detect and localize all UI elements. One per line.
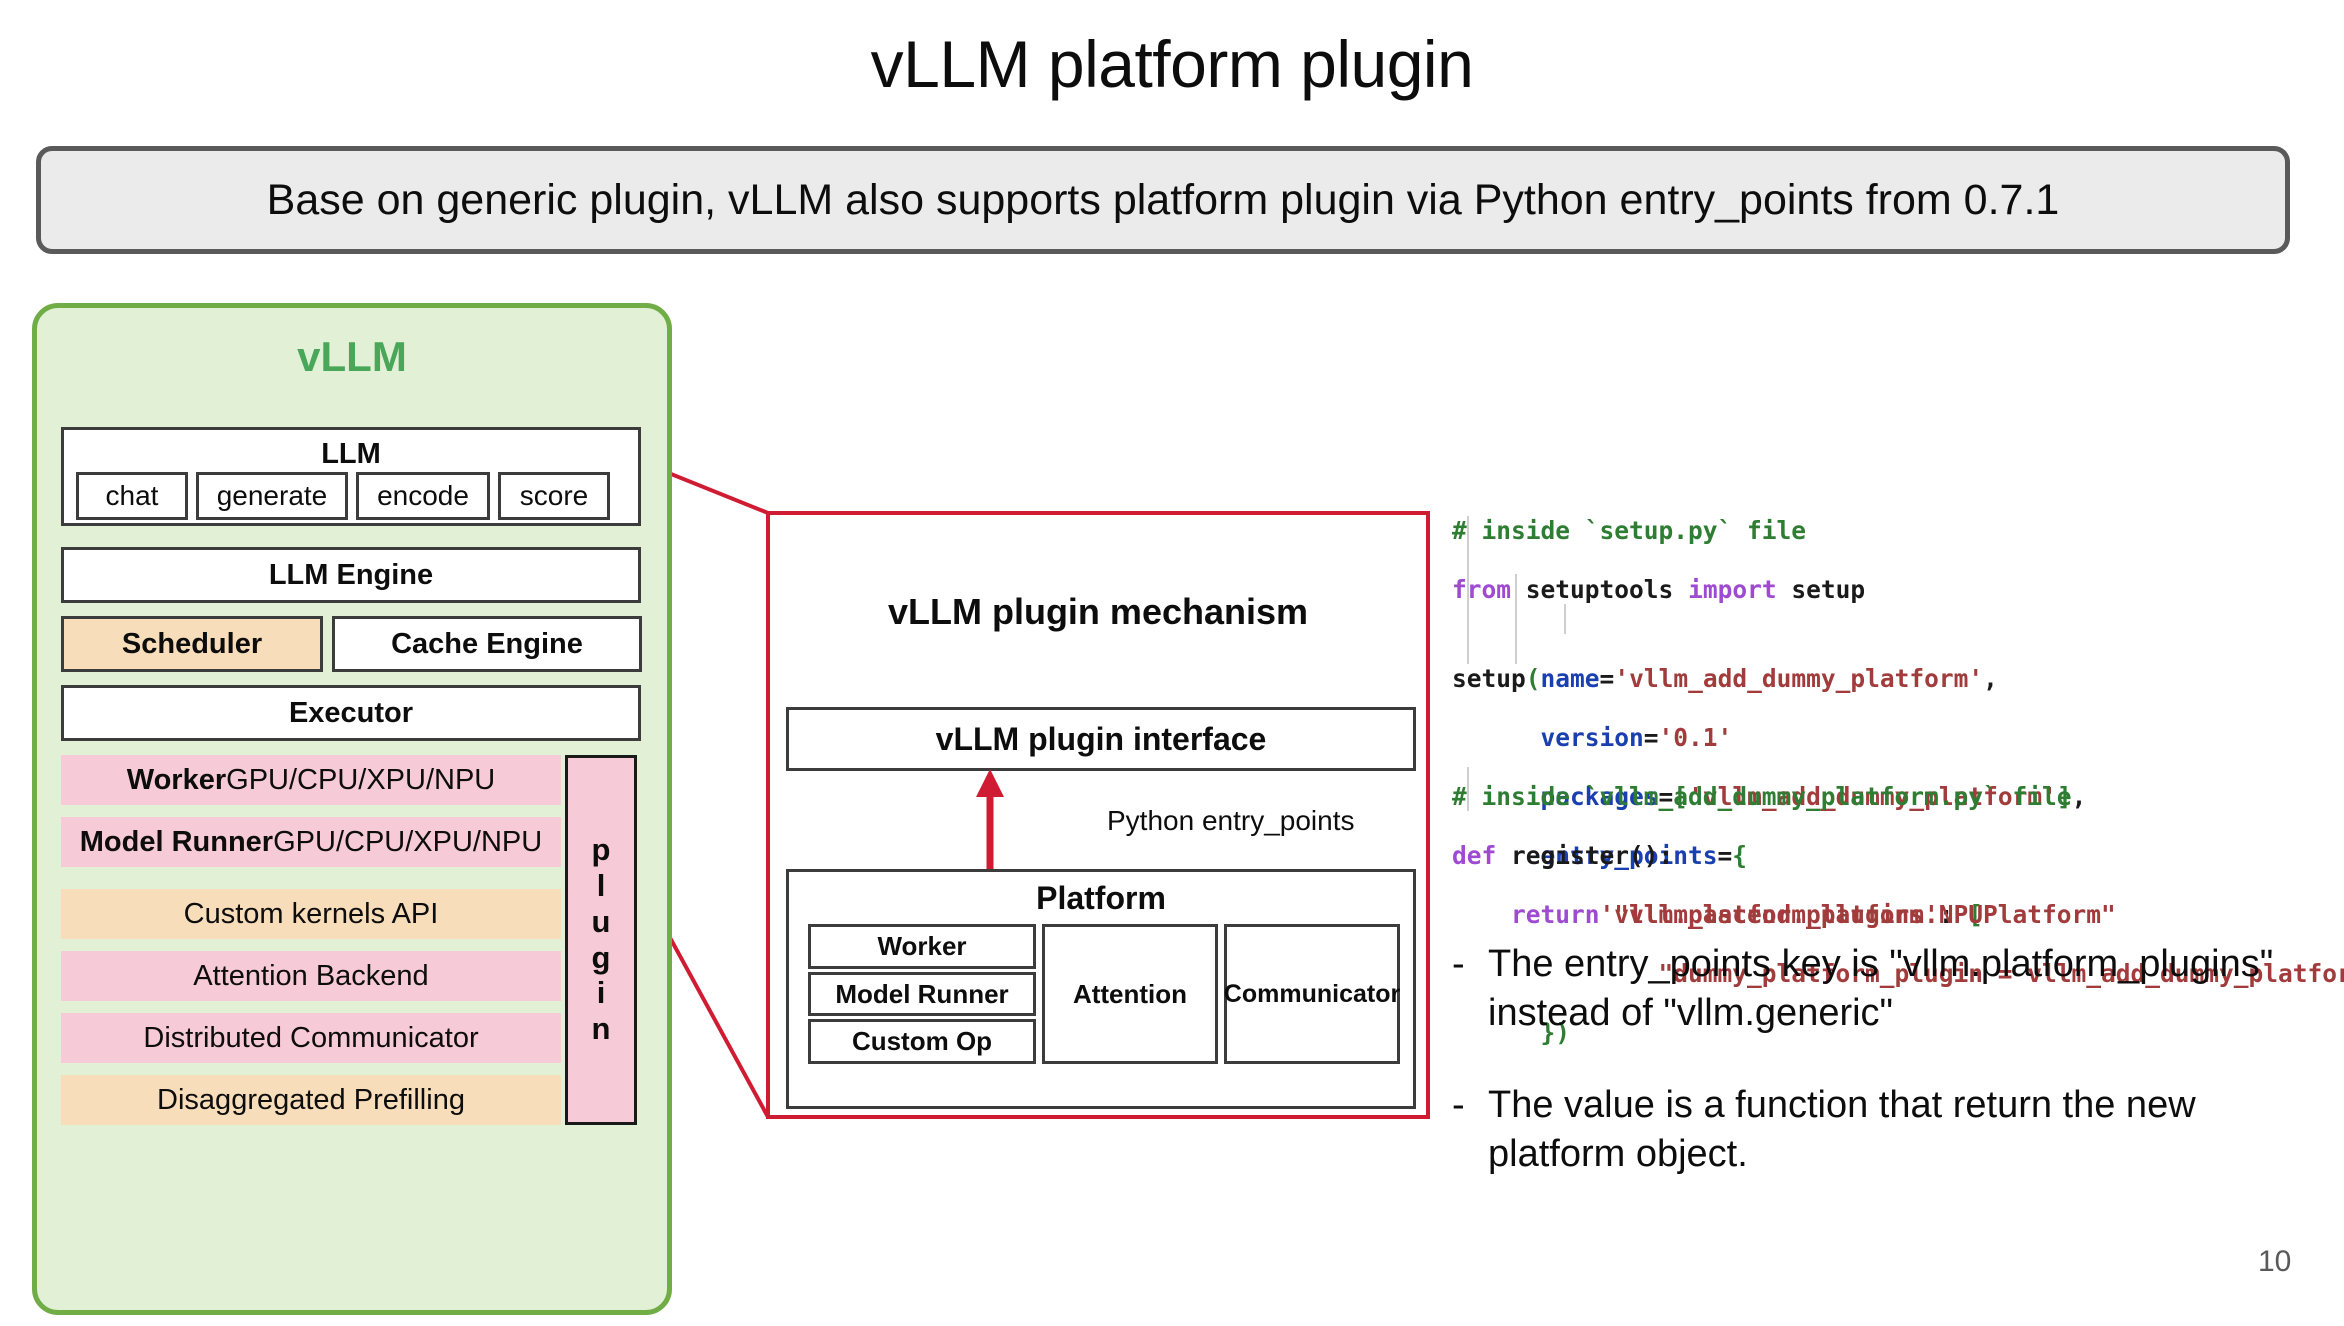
cache-engine-box: Cache Engine — [332, 616, 642, 672]
vllm-panel-heading: vLLM — [37, 333, 667, 381]
code-indent-guide — [1467, 767, 1469, 811]
executor-box: Executor — [61, 685, 641, 741]
summary-banner: Base on generic plugin, vLLM also suppor… — [36, 146, 2290, 254]
llm-api-generate[interactable]: generate — [196, 472, 348, 520]
row-model-runner: Model Runner GPU/CPU/XPU/NPU — [61, 817, 561, 867]
vllm-architecture-panel: vLLM LLM chat generate encode score LLM … — [32, 303, 672, 1315]
llm-group-label: LLM — [64, 438, 638, 471]
platform-attention: Attention — [1042, 924, 1218, 1064]
row-attention-backend: Attention Backend — [61, 951, 561, 1001]
row-distributed-communicator-label: Distributed Communicator — [143, 1022, 478, 1055]
list-item: - The entry_points key is "vllm.platform… — [1452, 940, 2292, 1037]
page-number: 10 — [2258, 1245, 2291, 1279]
scheduler-label: Scheduler — [122, 628, 262, 661]
row-model-runner-rest: GPU/CPU/XPU/NPU — [273, 826, 542, 859]
row-distributed-communicator: Distributed Communicator — [61, 1013, 561, 1063]
row-worker-bold: Worker — [127, 764, 226, 797]
row-custom-kernels-api-label: Custom kernels API — [184, 898, 439, 931]
plugin-letter-l: l — [597, 869, 606, 904]
platform-columns: Worker Model Runner Custom Op Attention … — [808, 924, 1400, 1064]
notes-bullet-list: - The entry_points key is "vllm.platform… — [1452, 940, 2292, 1223]
llm-api-score[interactable]: score — [498, 472, 610, 520]
code-indent-guide — [1515, 574, 1517, 664]
bullet-dash: - — [1452, 940, 1488, 1037]
bullet-dash: - — [1452, 1081, 1488, 1178]
row-model-runner-bold: Model Runner — [80, 826, 273, 859]
platform-model-runner: Model Runner — [808, 972, 1036, 1017]
llm-api-row: chat generate encode score — [76, 472, 632, 520]
summary-banner-text: Base on generic plugin, vLLM also suppor… — [267, 176, 2060, 225]
row-custom-kernels-api: Custom kernels API — [61, 889, 561, 939]
plugin-mechanism-callout: vLLM plugin mechanism vLLM plugin interf… — [766, 511, 1430, 1119]
scheduler-box: Scheduler — [61, 616, 323, 672]
llm-engine-box: LLM Engine — [61, 547, 641, 603]
llm-engine-label: LLM Engine — [269, 559, 433, 592]
cache-engine-label: Cache Engine — [391, 628, 583, 661]
platform-title: Platform — [789, 880, 1413, 917]
plugin-letter-u: u — [592, 905, 611, 940]
row-attention-backend-label: Attention Backend — [193, 960, 428, 993]
vllm-plugin-interface-label: vLLM plugin interface — [936, 721, 1267, 758]
platform-box: Platform Worker Model Runner Custom Op A… — [786, 869, 1416, 1109]
executor-label: Executor — [289, 697, 413, 730]
plugin-vertical-bar: p l u g i n — [565, 755, 637, 1125]
plugin-letter-i: i — [597, 976, 606, 1011]
row-worker: Worker GPU/CPU/XPU/NPU — [61, 755, 561, 805]
platform-left-column: Worker Model Runner Custom Op — [808, 924, 1036, 1064]
code-line-comment-2: # inside `vllm_add_dummy_platform.py` fi… — [1452, 782, 2072, 811]
bullet-text: The value is a function that return the … — [1488, 1081, 2292, 1178]
entry-points-arrow-label: Python entry_points — [1107, 805, 1355, 837]
platform-communicator: Communicator — [1224, 924, 1400, 1064]
code-indent-guide — [1564, 604, 1566, 634]
vllm-plugin-interface-box: vLLM plugin interface — [786, 707, 1416, 771]
plugin-mechanism-title: vLLM plugin mechanism — [770, 591, 1426, 633]
list-item: - The value is a function that return th… — [1452, 1081, 2292, 1178]
code-block-register-py: # inside `vllm_add_dummy_platform.py` fi… — [1452, 723, 2116, 959]
plugin-letter-n: n — [592, 1012, 611, 1047]
llm-api-encode[interactable]: encode — [356, 472, 490, 520]
platform-worker: Worker — [808, 924, 1036, 969]
bullet-text: The entry_points key is "vllm.platform_p… — [1488, 940, 2292, 1037]
row-worker-rest: GPU/CPU/XPU/NPU — [226, 764, 495, 797]
row-disaggregated-prefilling-label: Disaggregated Prefilling — [157, 1084, 465, 1117]
code-indent-guide — [1467, 516, 1469, 664]
page-title: vLLM platform plugin — [0, 28, 2344, 101]
llm-group-box: LLM chat generate encode score — [61, 427, 641, 526]
plugin-letter-g: g — [592, 941, 611, 976]
code-line-comment: # inside `setup.py` file — [1452, 516, 1806, 545]
plugin-letter-p: p — [592, 833, 611, 868]
llm-api-chat[interactable]: chat — [76, 472, 188, 520]
row-disaggregated-prefilling: Disaggregated Prefilling — [61, 1075, 561, 1125]
platform-custom-op: Custom Op — [808, 1019, 1036, 1064]
slide-root: vLLM platform plugin Base on generic plu… — [0, 0, 2344, 1326]
